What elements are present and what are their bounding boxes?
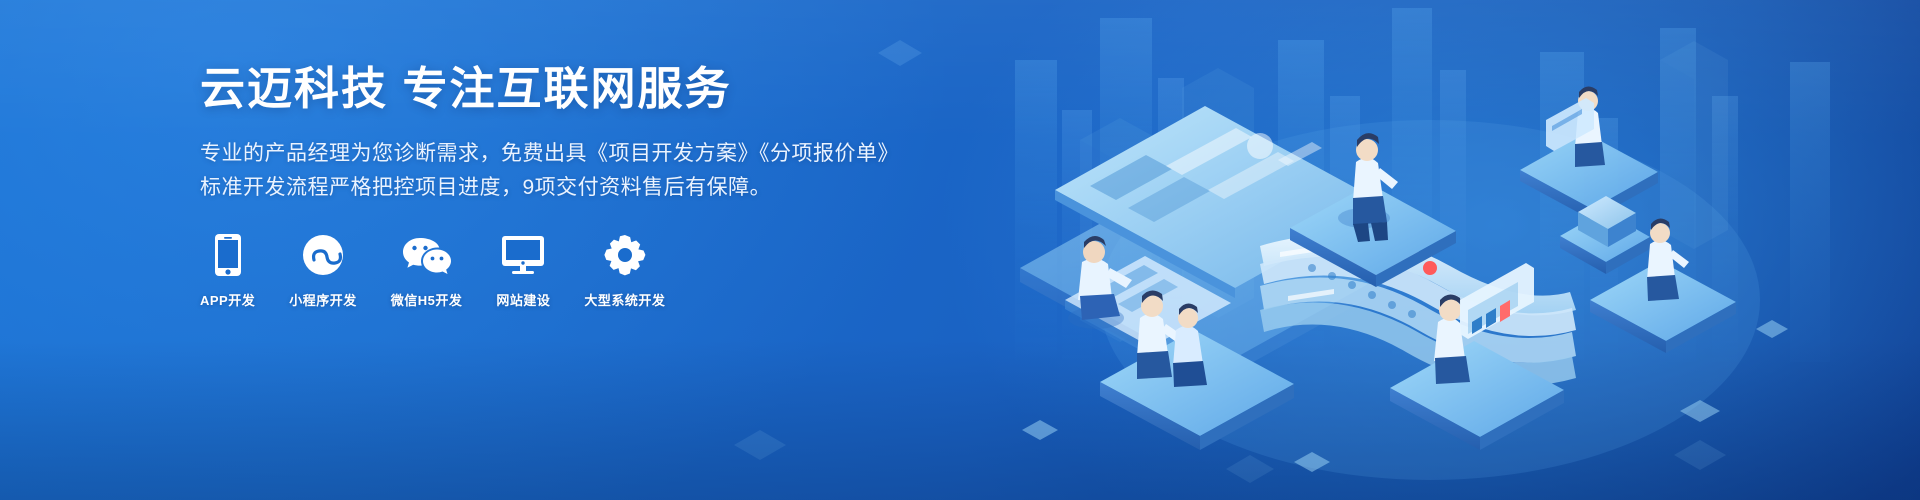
page-title: 云迈科技 专注互联网服务 (200, 62, 900, 115)
service-item-mini-program[interactable]: 小程序开发 (289, 232, 357, 309)
service-label: 微信H5开发 (391, 290, 463, 309)
service-item-wechat-h5[interactable]: 微信H5开发 (391, 232, 463, 309)
wechat-icon (402, 232, 452, 278)
subtitle-line-2: 标准开发流程严格把控项目进度，9项交付资料售后有保障。 (200, 171, 900, 205)
mini-program-icon (302, 232, 344, 278)
banner-copy: 云迈科技 专注互联网服务 专业的产品经理为您诊断需求，免费出具《项目开发方案》《… (200, 62, 900, 205)
service-label: APP开发 (200, 290, 255, 309)
subtitle-line-1: 专业的产品经理为您诊断需求，免费出具《项目开发方案》《分项报价单》 (200, 137, 900, 171)
service-item-large-system[interactable]: 大型系统开发 (584, 232, 665, 309)
banner-subtitle: 专业的产品经理为您诊断需求，免费出具《项目开发方案》《分项报价单》 标准开发流程… (200, 137, 900, 205)
gear-icon (604, 232, 646, 278)
isometric-illustration (960, 0, 1920, 500)
mobile-phone-icon (214, 232, 242, 278)
service-item-app[interactable]: APP开发 (200, 232, 255, 309)
service-label: 大型系统开发 (584, 290, 665, 309)
service-label: 小程序开发 (289, 290, 357, 309)
service-label: 网站建设 (496, 290, 550, 309)
service-list: APP开发 小程序开发 微信 (200, 232, 699, 309)
hero-banner: 云迈科技 专注互联网服务 专业的产品经理为您诊断需求，免费出具《项目开发方案》《… (0, 0, 1920, 500)
service-item-website[interactable]: 网站建设 (496, 232, 550, 309)
monitor-icon (501, 232, 545, 278)
